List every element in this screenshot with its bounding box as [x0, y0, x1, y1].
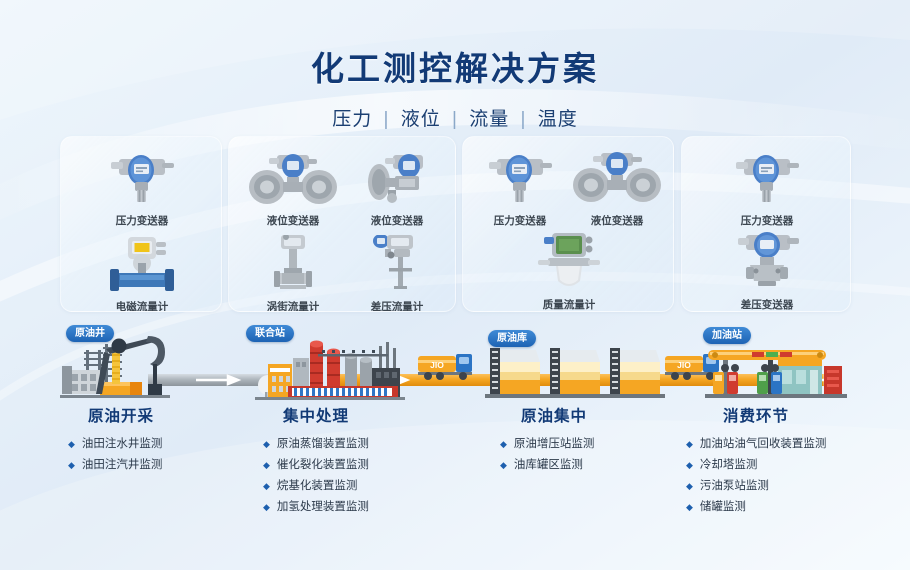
bullet-diamond-icon: ◆ — [500, 437, 507, 451]
pressure-transmitter-icon — [82, 149, 202, 207]
product-item[interactable]: 质量流量计 — [516, 233, 622, 312]
product-item[interactable]: 压力变送器 — [82, 149, 202, 228]
list-item[interactable]: ◆ 储罐监测 — [686, 500, 826, 514]
subtitle-item-pressure: 压力 — [332, 109, 372, 130]
bullet-diamond-icon: ◆ — [686, 458, 693, 472]
bullet-text: 油田注汽井监测 — [82, 458, 163, 472]
list-item[interactable]: ◆ 油田注汽井监测 — [68, 458, 162, 472]
subtitle-item-level: 液位 — [401, 109, 441, 130]
bullet-diamond-icon: ◆ — [263, 500, 270, 514]
bullet-text: 冷却塔监测 — [700, 458, 758, 472]
bullet-text: 油田注水井监测 — [82, 437, 163, 451]
product-item[interactable]: 涡街流量计 — [237, 235, 349, 312]
list-item[interactable]: ◆ 油田注水井监测 — [68, 437, 162, 451]
product-item[interactable]: 差压变送器 — [707, 233, 827, 312]
subtitle-item-flow: 流量 — [469, 109, 509, 130]
product-card-level-flow[interactable]: 液位变送器 — [228, 136, 456, 312]
storage-tanks-scene — [485, 348, 665, 398]
stage-title-processing: 集中处理 — [283, 404, 349, 426]
list-item[interactable]: ◆ 油库罐区监测 — [500, 458, 594, 472]
stage-title-consumption: 消费环节 — [723, 404, 789, 426]
product-card-pressure-level-mass[interactable]: 压力变送器 — [462, 136, 674, 312]
stage-bullets-collection: ◆ 原油增压站监测 ◆ 油库罐区监测 — [500, 437, 594, 479]
product-label: 压力变送器 — [82, 213, 202, 228]
subtitle-row: 压力 | 液位 | 流量 | 温度 — [0, 104, 910, 131]
electromagnetic-flowmeter-icon — [82, 235, 202, 293]
bullet-text: 原油增压站监测 — [514, 437, 595, 451]
oil-pumpjack-scene — [60, 336, 170, 398]
stage-tag-union-station[interactable]: 联合站 — [246, 325, 294, 342]
bullet-diamond-icon: ◆ — [68, 437, 75, 451]
bullet-text: 污油泵站监测 — [700, 479, 769, 493]
product-label: 差压流量计 — [341, 299, 453, 312]
bullet-diamond-icon: ◆ — [686, 500, 693, 514]
bullet-text: 加油站油气回收装置监测 — [700, 437, 827, 451]
page-title: 化工测控解决方案 — [0, 42, 910, 90]
differential-pressure-flowmeter-icon — [341, 235, 453, 293]
bullet-text: 烷基化装置监测 — [277, 479, 358, 493]
list-item[interactable]: ◆ 加油站油气回收装置监测 — [686, 437, 826, 451]
list-item[interactable]: ◆ 加氢处理装置监测 — [263, 500, 369, 514]
product-label: 质量流量计 — [516, 297, 622, 312]
product-label: 液位变送器 — [563, 213, 671, 228]
gas-station-scene — [705, 350, 847, 398]
product-item[interactable]: 液位变送器 — [341, 149, 453, 228]
stage-tag-crude-depot[interactable]: 原油库 — [488, 330, 536, 347]
bullet-diamond-icon: ◆ — [686, 479, 693, 493]
subtitle-separator: | — [521, 109, 527, 130]
stage-title-collection: 原油集中 — [521, 404, 587, 426]
list-item[interactable]: ◆ 原油蒸馏装置监测 — [263, 437, 369, 451]
bullet-text: 原油蒸馏装置监测 — [277, 437, 369, 451]
mass-flowmeter-icon — [516, 233, 622, 291]
list-item[interactable]: ◆ 烷基化装置监测 — [263, 479, 369, 493]
bullet-text: 储罐监测 — [700, 500, 746, 514]
vortex-flowmeter-icon — [237, 235, 349, 293]
stage-title-extraction: 原油开采 — [88, 404, 154, 426]
product-item[interactable]: 电磁流量计 — [82, 235, 202, 312]
truck-label: JIO — [430, 360, 444, 370]
bullet-diamond-icon: ◆ — [686, 437, 693, 451]
stage-tag-gas-station[interactable]: 加油站 — [703, 327, 751, 344]
bullet-diamond-icon: ◆ — [500, 458, 507, 472]
bullet-diamond-icon: ◆ — [68, 458, 75, 472]
page-header: 化工测控解决方案 压力 | 液位 | 流量 | 温度 — [0, 0, 910, 130]
list-item[interactable]: ◆ 催化裂化装置监测 — [263, 458, 369, 472]
bullet-text: 油库罐区监测 — [514, 458, 583, 472]
bullet-text: 催化裂化装置监测 — [277, 458, 369, 472]
level-transmitter-single-flange-icon — [341, 149, 453, 207]
list-item[interactable]: ◆ 污油泵站监测 — [686, 479, 826, 493]
stage-tag-oil-well[interactable]: 原油井 — [66, 325, 114, 342]
subtitle-item-temperature: 温度 — [538, 109, 578, 130]
product-card-pressure-differential[interactable]: 压力变送器 差压变 — [681, 136, 851, 312]
stage-bullets-extraction: ◆ 油田注水井监测 ◆ 油田注汽井监测 — [68, 437, 162, 479]
differential-pressure-transmitter-icon — [707, 233, 827, 291]
bullet-diamond-icon: ◆ — [263, 479, 270, 493]
product-label: 差压变送器 — [707, 297, 827, 312]
level-transmitter-flanged-icon — [563, 149, 671, 207]
product-item[interactable]: 液位变送器 — [563, 149, 671, 228]
list-item[interactable]: ◆ 冷却塔监测 — [686, 458, 826, 472]
stage-bullets-consumption: ◆ 加油站油气回收装置监测 ◆ 冷却塔监测 ◆ 污油泵站监测 ◆ 储罐监测 — [686, 437, 826, 521]
product-label: 液位变送器 — [341, 213, 453, 228]
product-label: 压力变送器 — [467, 213, 573, 228]
subtitle-separator: | — [452, 109, 458, 130]
bullet-text: 加氢处理装置监测 — [277, 500, 369, 514]
process-flow-section: JIO — [0, 322, 910, 570]
pressure-transmitter-icon — [707, 149, 827, 207]
pressure-transmitter-icon — [467, 149, 573, 207]
product-item[interactable]: 液位变送器 — [237, 149, 349, 228]
product-card-pressure-flow[interactable]: 压力变送器 电磁流量计 — [60, 136, 222, 312]
bullet-diamond-icon: ◆ — [263, 437, 270, 451]
truck-label: JIO — [677, 360, 691, 370]
refinery-plant-scene — [255, 341, 405, 401]
product-label: 涡街流量计 — [237, 299, 349, 312]
bullet-diamond-icon: ◆ — [263, 458, 270, 472]
product-label: 压力变送器 — [707, 213, 827, 228]
product-label: 液位变送器 — [237, 213, 349, 228]
product-item[interactable]: 压力变送器 — [707, 149, 827, 228]
product-item[interactable]: 差压流量计 — [341, 235, 453, 312]
product-item[interactable]: 压力变送器 — [467, 149, 573, 228]
product-label: 电磁流量计 — [82, 299, 202, 312]
subtitle-separator: | — [384, 109, 390, 130]
product-cards-row: 压力变送器 电磁流量计 — [0, 136, 910, 312]
level-transmitter-flanged-icon — [237, 149, 349, 207]
list-item[interactable]: ◆ 原油增压站监测 — [500, 437, 594, 451]
stage-bullets-processing: ◆ 原油蒸馏装置监测 ◆ 催化裂化装置监测 ◆ 烷基化装置监测 ◆ 加氢处理装置… — [263, 437, 369, 521]
